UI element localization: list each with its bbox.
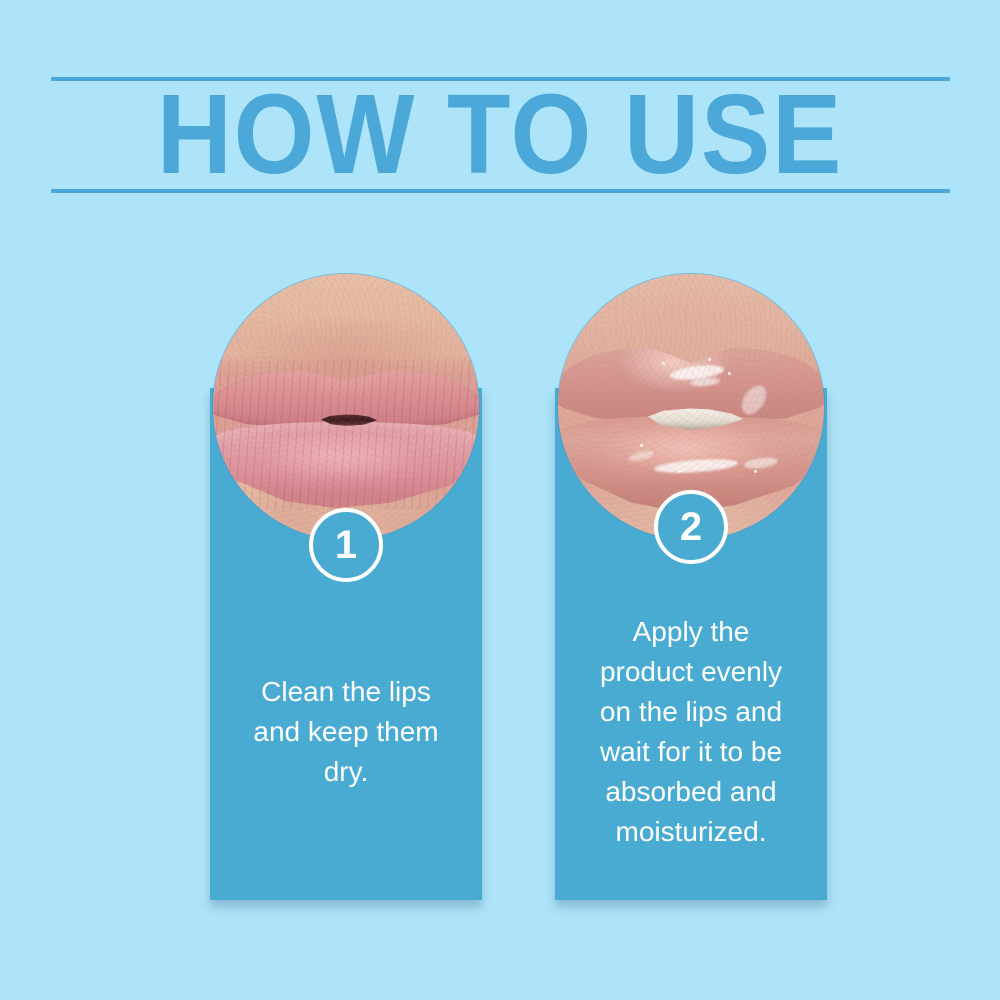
dry-lips-image — [213, 274, 479, 540]
header: HOW TO USE — [0, 0, 1000, 230]
page-title: HOW TO USE — [40, 78, 960, 190]
step-number-badge-2: 2 — [654, 490, 728, 564]
title-rule-bottom — [51, 189, 950, 193]
step-caption-2: Apply the product evenly on the lips and… — [560, 612, 822, 852]
step-number-badge-1: 1 — [309, 508, 383, 582]
step-caption-1: Clean the lips and keep them dry. — [215, 672, 477, 792]
steps-container: 1 Clean the lips and keep them dry. — [0, 260, 1000, 940]
step-1-photo — [213, 274, 479, 540]
step-card-2: 2 Apply the product evenly on the lips a… — [555, 260, 827, 920]
poster-root: HOW TO USE 1 Clean the lips and keep the… — [0, 0, 1000, 1000]
step-card-1: 1 Clean the lips and keep them dry. — [210, 260, 482, 920]
